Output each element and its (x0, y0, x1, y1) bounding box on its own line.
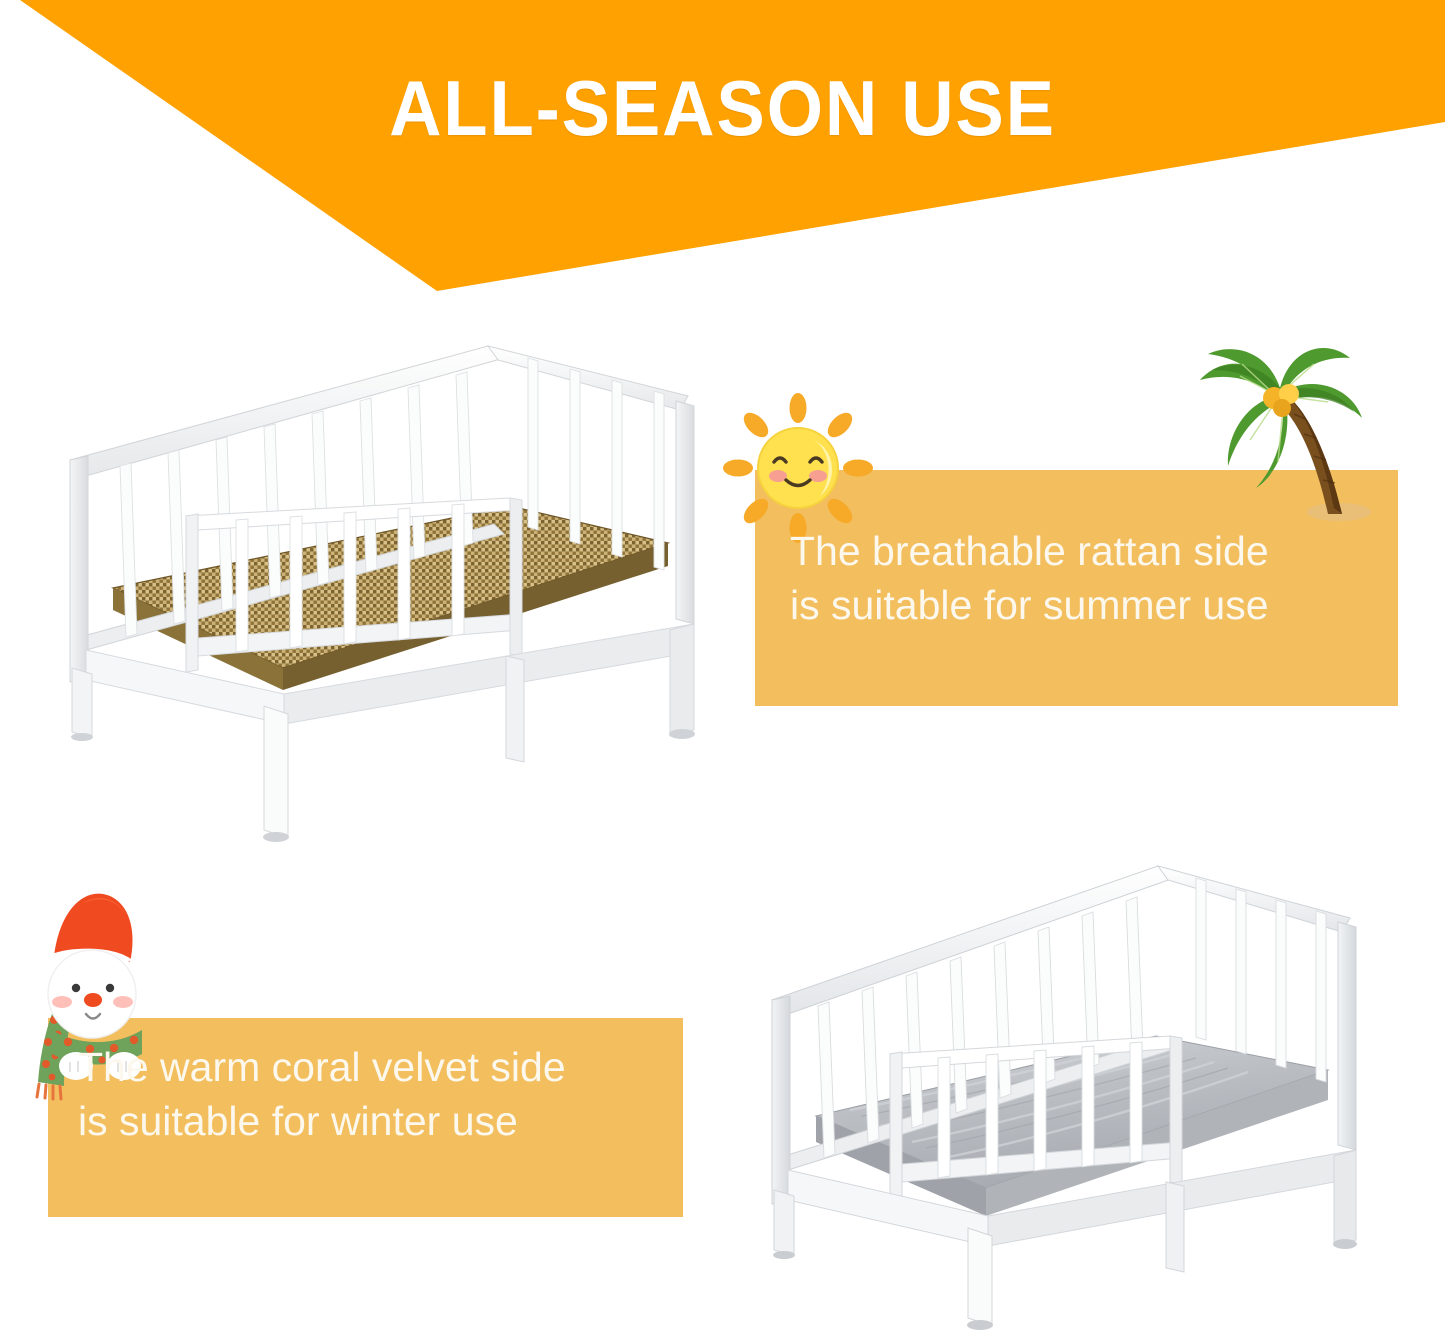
product-image-rattan-bed (58, 338, 726, 874)
callout-text-summer: The breathable rattan side is suitable f… (790, 524, 1390, 632)
sun-icon (722, 392, 874, 544)
palm-tree-icon-glyph (1182, 336, 1384, 536)
product-image-velvet-bed (758, 858, 1384, 1344)
sun-icon-glyph (722, 392, 874, 544)
pet-bed-velvet-illustration (758, 858, 1384, 1344)
callout-text-winter: The warm coral velvet side is suitable f… (78, 1040, 678, 1148)
pet-bed-rattan-illustration (58, 338, 726, 874)
page-title: ALL-SEASON USE (51, 66, 1395, 150)
infographic-page: ALL-SEASON USE (0, 0, 1445, 1344)
palm-tree-icon (1182, 336, 1384, 536)
